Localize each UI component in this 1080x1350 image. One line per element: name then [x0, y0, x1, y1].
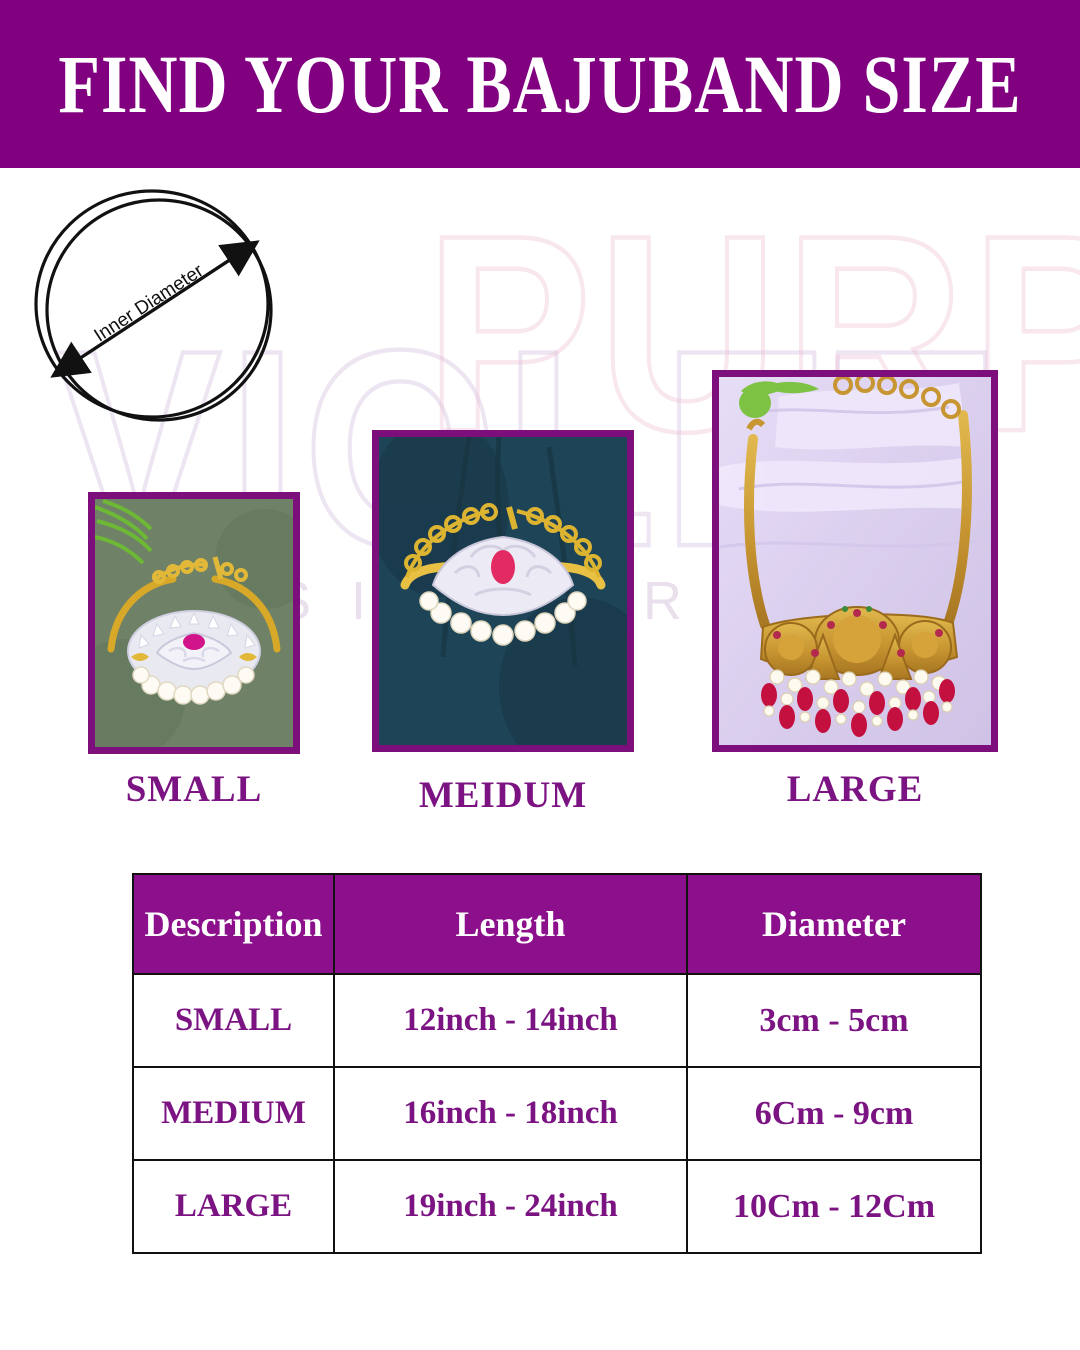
column-header-description: Description — [133, 874, 334, 974]
size-guide-page: VIOLET PURPLE DESIGNER ® FIND YOUR BAJUB… — [0, 0, 1080, 1350]
product-card-small: SMALL — [88, 492, 300, 811]
column-header-diameter: Diameter — [687, 874, 981, 974]
header-banner: FIND YOUR BAJUBAND SIZE — [0, 0, 1080, 168]
product-label-medium: MEIDUM — [372, 774, 634, 817]
table-row: SMALL 12inch - 14inch 3cm - 5cm — [133, 974, 981, 1067]
page-title: FIND YOUR BAJUBAND SIZE — [58, 36, 1021, 132]
cell-description: MEDIUM — [133, 1067, 334, 1160]
cell-diameter: 3cm - 5cm — [687, 974, 981, 1067]
inner-circle-icon — [47, 200, 271, 420]
table-row: LARGE 19inch - 24inch 10Cm - 12Cm — [133, 1160, 981, 1253]
product-image-medium — [372, 430, 634, 752]
inner-diameter-diagram: Inner Diameter — [24, 182, 294, 432]
cell-description: SMALL — [133, 974, 334, 1067]
table-row: MEDIUM 16inch - 18inch 6Cm - 9cm — [133, 1067, 981, 1160]
cell-length: 16inch - 18inch — [334, 1067, 687, 1160]
cell-description: LARGE — [133, 1160, 334, 1253]
cell-diameter: 6Cm - 9cm — [687, 1067, 981, 1160]
product-label-small: SMALL — [88, 768, 300, 811]
product-card-medium: MEIDUM — [372, 430, 634, 817]
product-card-large: LARGE — [712, 370, 998, 811]
product-image-small — [88, 492, 300, 754]
diameter-label: Inner Diameter — [91, 260, 208, 346]
cell-diameter: 10Cm - 12Cm — [687, 1160, 981, 1253]
cell-length: 12inch - 14inch — [334, 974, 687, 1067]
product-label-large: LARGE — [712, 768, 998, 811]
column-header-length: Length — [334, 874, 687, 974]
product-image-large — [712, 370, 998, 752]
table-header-row: Description Length Diameter — [133, 874, 981, 974]
size-chart-table: Description Length Diameter SMALL 12inch… — [132, 873, 982, 1254]
cell-length: 19inch - 24inch — [334, 1160, 687, 1253]
